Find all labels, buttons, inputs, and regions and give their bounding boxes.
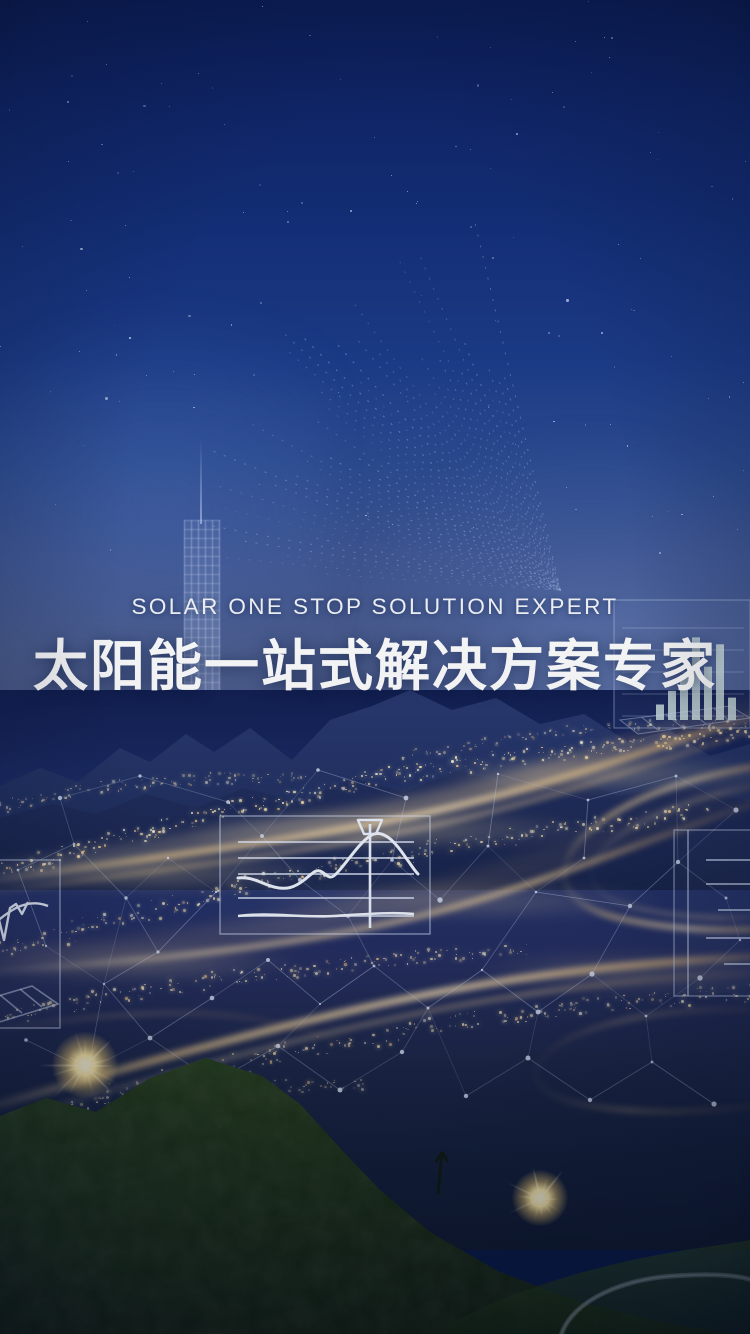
star xyxy=(668,511,669,512)
hero-banner: SOLAR ONE STOP SOLUTION EXPERT 太阳能一站式解决方… xyxy=(0,0,750,1334)
star xyxy=(198,73,199,74)
banner-subtitle: SOLAR ONE STOP SOLUTION EXPERT xyxy=(0,596,750,619)
star xyxy=(601,332,603,334)
star xyxy=(575,509,577,511)
star xyxy=(591,72,592,73)
star xyxy=(437,36,439,38)
hero-text-block: SOLAR ONE STOP SOLUTION EXPERT 太阳能一站式解决方… xyxy=(0,596,750,697)
star xyxy=(71,75,73,77)
star xyxy=(68,161,69,162)
star xyxy=(563,106,565,108)
light-flare-right-rays xyxy=(512,1170,568,1226)
star xyxy=(611,37,613,39)
banner-title: 太阳能一站式解决方案专家 xyxy=(0,636,750,698)
star xyxy=(224,124,225,125)
star xyxy=(743,382,744,383)
flare-ray xyxy=(39,1065,85,1067)
flare-ray xyxy=(84,1066,86,1085)
star xyxy=(609,57,610,58)
star xyxy=(143,105,145,107)
star xyxy=(671,356,672,357)
radiating-dot-rays xyxy=(0,170,560,590)
star xyxy=(516,133,518,135)
star xyxy=(575,41,576,42)
star xyxy=(566,299,568,301)
star xyxy=(627,445,629,447)
light-flare-left-rays xyxy=(52,1032,118,1098)
star xyxy=(588,1,589,2)
tower-spire xyxy=(200,440,202,524)
